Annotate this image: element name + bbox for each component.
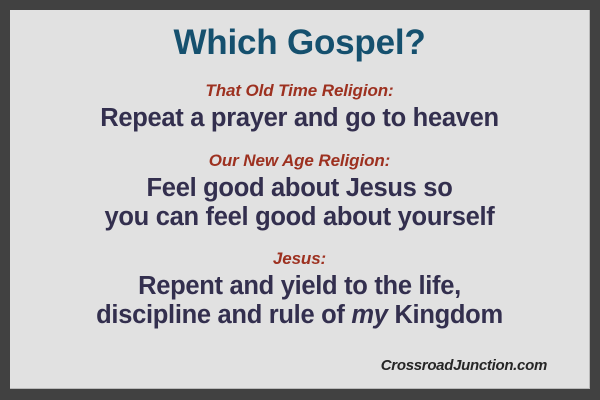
section-label-jesus: Jesus: [10,249,589,269]
poster-frame: Which Gospel? That Old Time Religion: Re… [0,0,600,400]
section-jesus: Jesus: Repent and yield to the life, dis… [10,249,589,330]
section-label-old-time-religion: That Old Time Religion: [10,81,589,101]
section-old-time-religion: That Old Time Religion: Repeat a prayer … [10,81,589,133]
section-body-jesus-line-2-after: Kingdom [388,301,503,329]
poster-card: Which Gospel? That Old Time Religion: Re… [10,10,590,389]
section-body-jesus-line-2-before: discipline and rule of [96,301,351,329]
footer-credit: CrossroadJunction.com [381,357,547,375]
section-body-new-age-religion-line-1: Feel good about Jesus so [10,174,589,203]
section-body-jesus-line-2-emphasis: my [351,301,387,329]
page-title: Which Gospel? [173,24,425,62]
section-body-jesus-line-1: Repent and yield to the life, [10,272,589,301]
section-body-new-age-religion-line-2: you can feel good about yourself [10,203,589,232]
section-body-jesus-line-2: discipline and rule of my Kingdom [10,301,589,330]
section-body-old-time-religion-line-1: Repeat a prayer and go to heaven [10,104,589,133]
section-new-age-religion: Our New Age Religion: Feel good about Je… [10,151,589,232]
section-label-new-age-religion: Our New Age Religion: [10,151,589,171]
